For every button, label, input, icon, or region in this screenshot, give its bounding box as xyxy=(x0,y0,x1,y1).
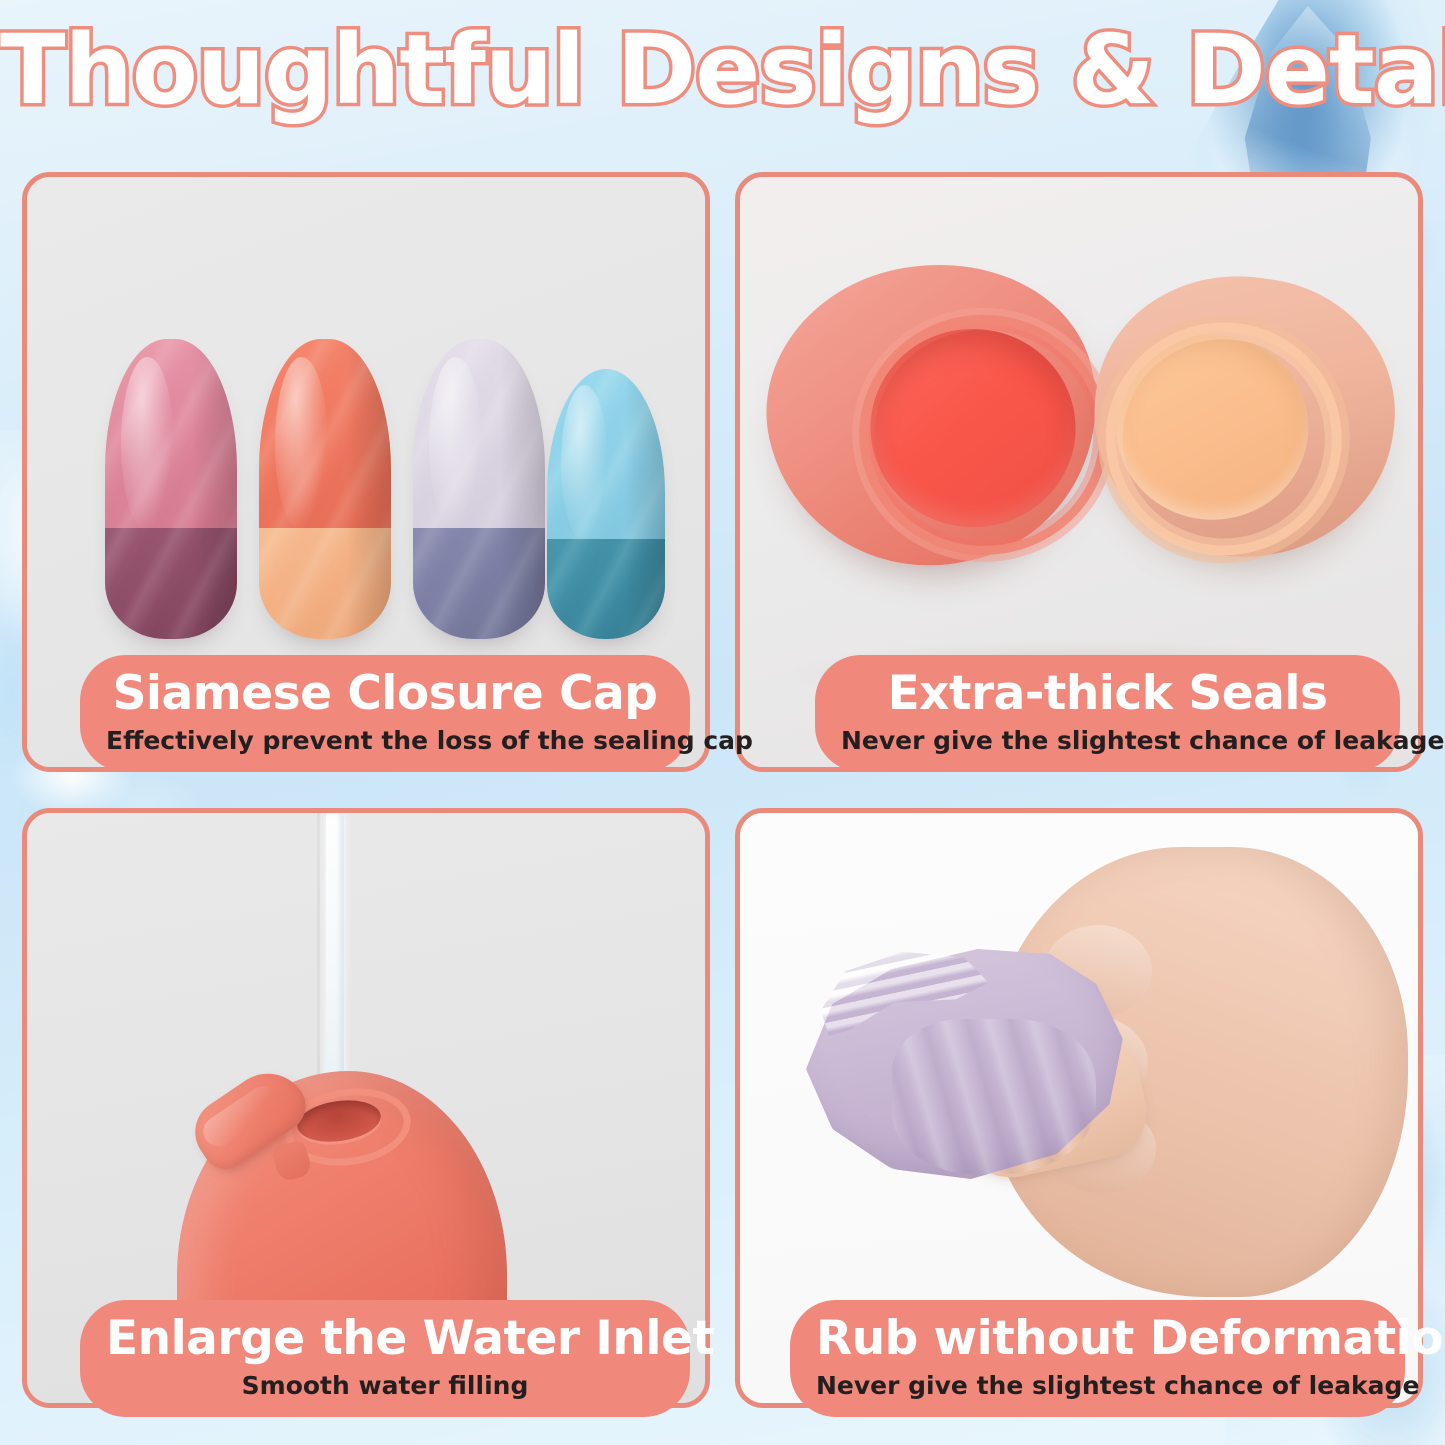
bottle-blue xyxy=(547,369,665,639)
caption-pill-siamese-closure-cap: Siamese Closure Cap Effectively prevent … xyxy=(80,655,690,772)
seal-coral xyxy=(740,234,1125,596)
bottle-pink xyxy=(105,339,237,639)
water-stream xyxy=(326,813,344,1088)
caption-title: Siamese Closure Cap xyxy=(106,669,664,720)
caption-subtitle: Never give the slightest chance of leaka… xyxy=(841,725,1374,756)
page-title: Thoughtful Designs & Details xyxy=(0,22,1445,118)
bottle-coral xyxy=(259,339,391,639)
caption-title: Enlarge the Water Inlet xyxy=(106,1314,664,1365)
caption-subtitle: Effectively prevent the loss of the seal… xyxy=(106,725,664,756)
seal-peach xyxy=(1076,257,1412,576)
bottle-lavender-squeezed xyxy=(806,929,1136,1179)
caption-title: Rub without Deformation xyxy=(816,1314,1379,1365)
caption-pill-extra-thick-seals: Extra-thick Seals Never give the slighte… xyxy=(815,655,1400,772)
caption-subtitle: Never give the slightest chance of leaka… xyxy=(816,1370,1379,1401)
bottle-lavender xyxy=(413,339,545,639)
caption-title: Extra-thick Seals xyxy=(841,669,1374,720)
infographic-page: Thoughtful Designs & Details xyxy=(0,0,1445,1445)
caption-pill-enlarge-the-water-inlet: Enlarge the Water Inlet Smooth water fil… xyxy=(80,1300,690,1417)
caption-subtitle: Smooth water filling xyxy=(106,1370,664,1401)
caption-pill-rub-without-deformation: Rub without Deformation Never give the s… xyxy=(790,1300,1405,1417)
